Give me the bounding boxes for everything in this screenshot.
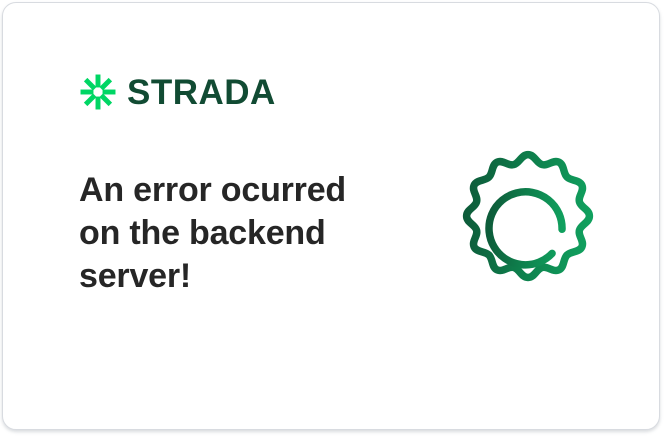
gear-icon [445, 143, 611, 309]
brand-name: STRADA [127, 75, 276, 110]
error-headline: An error ocurred on the backend server! [79, 169, 379, 298]
error-card: STRADA An error ocurred on the backend s… [2, 2, 660, 430]
brand-lockup: STRADA [79, 71, 276, 113]
strada-asterisk-icon [79, 73, 117, 111]
